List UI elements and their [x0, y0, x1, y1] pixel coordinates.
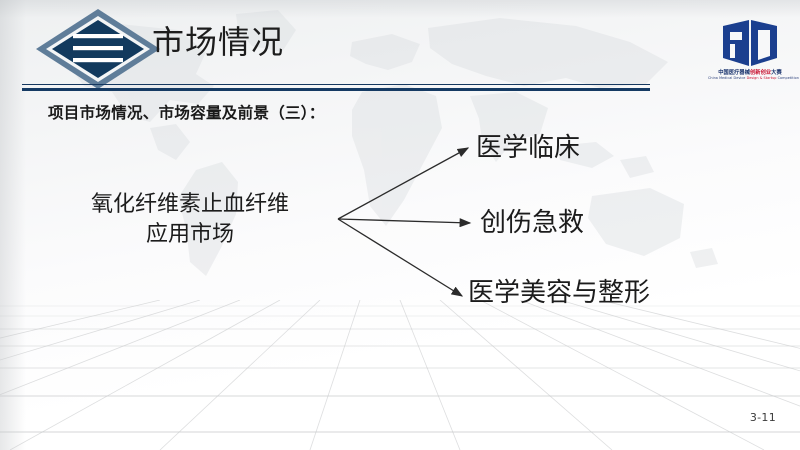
- diagram-root-line2: 应用市场: [45, 220, 335, 250]
- slide-canvas: 市场情况 中国医疗器械创新创业大赛 China Medical Device D…: [0, 0, 800, 450]
- diagram-branch-label-3: 医学美容与整形: [468, 278, 650, 308]
- arrow-to-branch-1: [338, 148, 468, 219]
- perspective-grid-floor: [0, 300, 800, 450]
- arrow-to-branch-2: [338, 219, 470, 223]
- arrow-to-branch-3: [338, 219, 462, 296]
- page-number: 3-11: [750, 411, 776, 424]
- diagram-branch-label-2: 创伤急救: [480, 208, 584, 238]
- logo-mark-icon: [719, 12, 781, 70]
- title-rule-thin: [22, 84, 650, 85]
- section-subtitle: 项目市场情况、市场容量及前景（三）：: [48, 101, 325, 123]
- diagram-root-line1: 氧化纤维素止血纤维: [45, 190, 335, 220]
- title-rule-thick: [22, 88, 650, 91]
- competition-logo: 中国医疗器械创新创业大赛 China Medical Device Design…: [708, 12, 792, 94]
- logo-chinese-name: 中国医疗器械创新创业大赛: [708, 70, 792, 76]
- left-edge-shade: [0, 0, 26, 450]
- hamburger-diamond-icon: [33, 6, 163, 92]
- logo-english-name: China Medical Device Design & Startup Co…: [708, 76, 792, 80]
- diagram-branch-label-1: 医学临床: [476, 133, 580, 163]
- page-title: 市场情况: [152, 26, 284, 58]
- diagram-root-node: 氧化纤维素止血纤维 应用市场: [45, 190, 335, 250]
